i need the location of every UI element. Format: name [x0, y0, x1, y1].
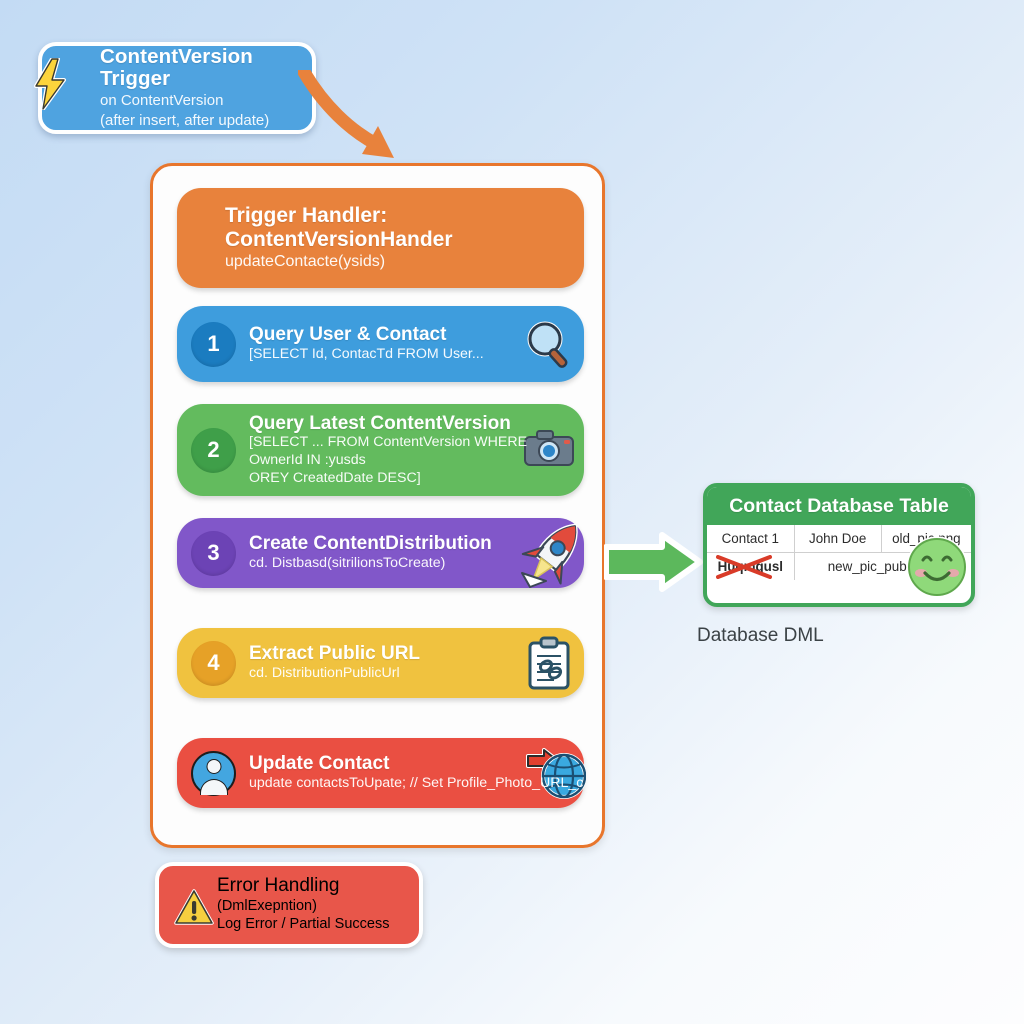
- trigger-handler-card[interactable]: Trigger Handler: ContentVersionHander up…: [177, 188, 584, 288]
- error-subtitle-line1: (DmlExepntion): [217, 897, 389, 915]
- camera-icon: [522, 423, 576, 477]
- curved-arrow-icon: [298, 70, 418, 170]
- trigger-subtitle-line1: on ContentVersion: [100, 91, 312, 110]
- contact-database-table[interactable]: Contact Database Table Contact 1 John Do…: [703, 483, 975, 607]
- db-table-header: Contact Database Table: [707, 487, 971, 525]
- avatar-body: [200, 779, 228, 795]
- handler-title-line1: Trigger Handler:: [225, 204, 453, 228]
- table-cell-contact-id: Contact 1: [707, 525, 794, 553]
- error-title: Error Handling: [217, 876, 389, 897]
- step-subtitle: [SELECT Id, ContacTd FROM User...: [249, 346, 484, 364]
- block-arrow-right-icon: [604, 531, 704, 603]
- clipboard-icon: [522, 636, 576, 690]
- handler-subtitle: updateContacte(ysids): [225, 252, 453, 272]
- avatar-head: [206, 759, 221, 774]
- step-card-extract-public-url[interactable]: 4 Extract Public URL cd. DistributionPub…: [177, 628, 584, 698]
- diagram-canvas: ContentVersion Trigger on ContentVersion…: [0, 0, 1024, 1024]
- step-card-create-contentdistribution[interactable]: 3 Create ContentDistribution cd. Distbas…: [177, 518, 584, 588]
- red-cross-out-icon: [715, 555, 773, 579]
- step-subtitle-line2: OwnerId IN :yusds: [249, 452, 527, 470]
- trigger-card[interactable]: ContentVersion Trigger on ContentVersion…: [38, 42, 316, 134]
- table-cell-struck-value: Huqmqusl: [707, 553, 794, 581]
- step-card-query-user-contact[interactable]: 1 Query User & Contact [SELECT Id, Conta…: [177, 306, 584, 382]
- lightning-bolt-icon: [30, 58, 70, 110]
- trigger-subtitle-line2: (after insert, after update): [100, 111, 312, 130]
- step-title: Create ContentDistribution: [249, 533, 492, 554]
- step-title: Query User & Contact: [249, 324, 484, 345]
- rocket-icon: [516, 515, 592, 591]
- magnifying-glass-icon: [522, 317, 576, 371]
- step-number-badge: 1: [191, 322, 236, 367]
- table-cell-contact-name: John Doe: [794, 525, 881, 553]
- step-number-badge: 4: [191, 641, 236, 686]
- handler-title-line2: ContentVersionHander: [225, 228, 453, 252]
- step-subtitle: cd. DistributionPublicUrl: [249, 665, 420, 683]
- step-title: Update Contact: [249, 753, 583, 774]
- step-title: Extract Public URL: [249, 643, 420, 664]
- error-handling-card[interactable]: Error Handling (DmlExepntion) Log Error …: [155, 862, 423, 948]
- trigger-title: ContentVersion Trigger: [100, 46, 312, 90]
- step-title: Query Latest ContentVersion: [249, 413, 527, 434]
- smiling-face-icon: [905, 535, 969, 599]
- step-subtitle-line1: [SELECT ... FROM ContentVersion WHERE: [249, 434, 527, 452]
- step-subtitle: update contactsToUpate; // Set Profile_P…: [249, 775, 583, 793]
- step-card-query-latest-contentversion[interactable]: 2 Query Latest ContentVersion [SELECT ..…: [177, 404, 584, 496]
- database-dml-caption: Database DML: [697, 625, 824, 647]
- step-subtitle: cd. Distbasd(sitrilionsToCreate): [249, 555, 492, 573]
- step-subtitle-line3: OREY CreatedDate DESC]: [249, 470, 527, 488]
- step-number-badge: 2: [191, 428, 236, 473]
- error-subtitle-line2: Log Error / Partial Success: [217, 915, 389, 933]
- step-number-badge: 3: [191, 531, 236, 576]
- warning-triangle-icon: [174, 888, 214, 926]
- flow-container: Trigger Handler: ContentVersionHander up…: [150, 163, 605, 848]
- avatar-icon: [191, 751, 236, 796]
- step-card-update-contact[interactable]: Update Contact update contactsToUpate; /…: [177, 738, 584, 808]
